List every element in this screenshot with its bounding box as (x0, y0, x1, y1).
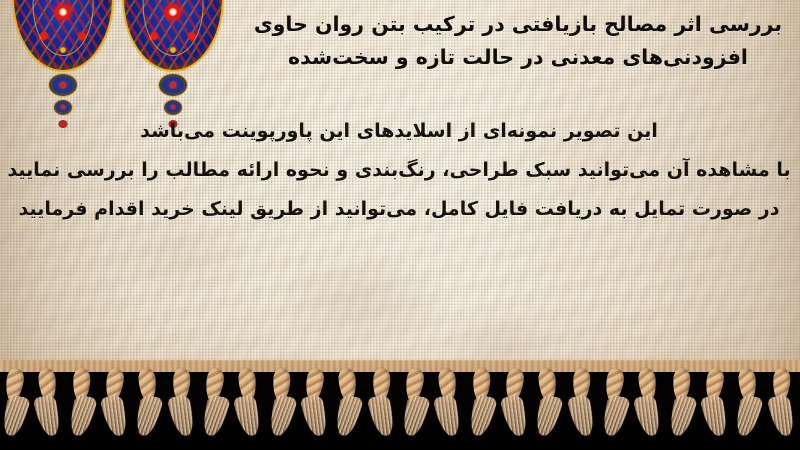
fringe-tassel (335, 366, 361, 446)
fringe-tassel (202, 366, 228, 446)
fringe-strands-icon (66, 395, 97, 437)
slide-text-layer: بررسی اثر مصالح بازیافتی در ترکیب بتن رو… (0, 0, 800, 378)
fringe-strands-icon (300, 395, 331, 437)
body-line-2: با مشاهده آن می‌توانید سبک طراحی، رنگ‌بن… (4, 151, 794, 190)
fringe-tassel (702, 366, 728, 446)
fringe-strands-icon (666, 395, 697, 437)
fringe-tassel (235, 366, 261, 446)
fringe-strands-icon (199, 395, 230, 437)
fringe-strands-icon (500, 395, 531, 437)
fringe-tassel (769, 366, 795, 446)
carpet-fringe-row (0, 366, 800, 450)
slide-title: بررسی اثر مصالح بازیافتی در ترکیب بتن رو… (244, 8, 792, 74)
fringe-strands-icon (100, 395, 131, 437)
fringe-tassel (135, 366, 161, 446)
fringe-strands-icon (466, 395, 497, 437)
fringe-tassel (169, 366, 195, 446)
slide-canvas: بررسی اثر مصالح بازیافتی در ترکیب بتن رو… (0, 0, 800, 450)
fringe-strands-icon (33, 395, 64, 437)
fringe-tassel (569, 366, 595, 446)
fringe-tassel (2, 366, 28, 446)
fringe-strands-icon (599, 395, 630, 437)
fringe-strands-icon (167, 395, 198, 437)
fringe-strands-icon (633, 395, 664, 437)
fringe-strands-icon (399, 395, 430, 437)
fringe-strands-icon (0, 395, 31, 437)
fringe-strands-icon (367, 395, 398, 437)
slide-body: این تصویر نمونه‌ای از اسلایدهای این پاور… (4, 112, 794, 229)
fringe-tassel (35, 366, 61, 446)
fringe-tassel (502, 366, 528, 446)
title-line-2: افزودنی‌های معدنی در حالت تازه و سخت‌شده (244, 41, 792, 74)
fringe-strands-icon (732, 395, 763, 437)
fringe-tassel (269, 366, 295, 446)
fringe-tassel (535, 366, 561, 446)
fringe-tassel (102, 366, 128, 446)
fringe-strands-icon (233, 395, 264, 437)
fringe-tassel (469, 366, 495, 446)
fringe-tassel (69, 366, 95, 446)
fringe-strands-icon (266, 395, 297, 437)
fringe-strands-icon (332, 395, 363, 437)
title-line-1: بررسی اثر مصالح بازیافتی در ترکیب بتن رو… (244, 8, 792, 41)
fringe-strands-icon (132, 395, 163, 437)
fringe-tassel (635, 366, 661, 446)
fringe-tassel (302, 366, 328, 446)
body-line-3: در صورت تمایل به دریافت فایل کامل، می‌تو… (4, 190, 794, 229)
fringe-tassel (435, 366, 461, 446)
fringe-tassel (602, 366, 628, 446)
fringe-tassel (735, 366, 761, 446)
fringe-tassel (369, 366, 395, 446)
fringe-strands-icon (767, 395, 798, 437)
fringe-strands-icon (433, 395, 464, 437)
body-line-1: این تصویر نمونه‌ای از اسلایدهای این پاور… (4, 112, 794, 151)
fringe-strands-icon (700, 395, 731, 437)
fringe-tassel (402, 366, 428, 446)
fringe-strands-icon (532, 395, 563, 437)
fringe-strands-icon (567, 395, 598, 437)
fringe-tassel (669, 366, 695, 446)
